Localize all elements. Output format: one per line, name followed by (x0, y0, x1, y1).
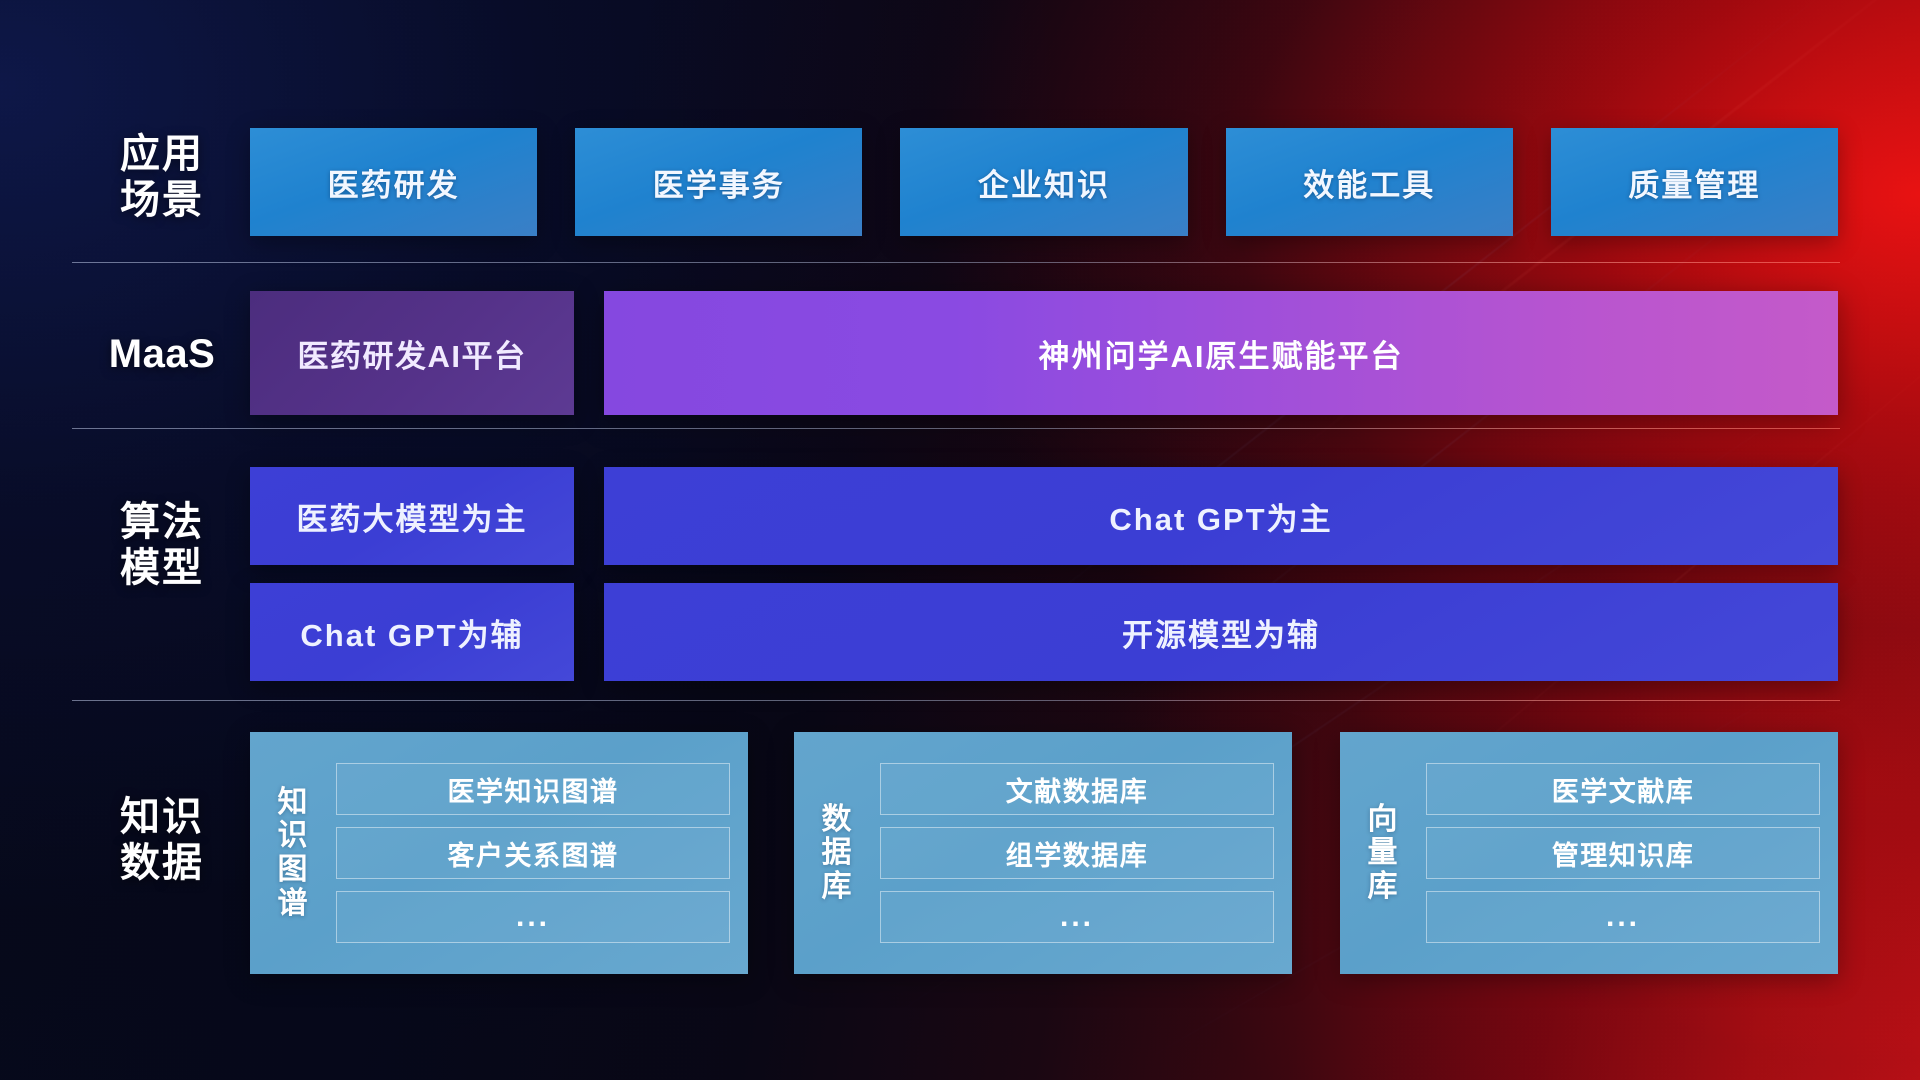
knowledge-item-label: 管理知识库 (1552, 834, 1695, 873)
knowledge-group-title: 向量库 (1340, 803, 1426, 904)
knowledge-group-vector-database: 向量库 医学文献库 管理知识库 ... (1340, 732, 1838, 974)
knowledge-group-title-char: 向 (1340, 803, 1426, 837)
application-box-quality-management[interactable]: 质量管理 (1551, 128, 1838, 236)
knowledge-group-title-char: 据 (794, 836, 880, 870)
row-label-algorithm-line1: 算法 (72, 500, 252, 546)
knowledge-item-label: 客户关系图谱 (448, 834, 619, 873)
application-box-label: 质量管理 (1628, 160, 1760, 205)
application-box-label: 医学事务 (653, 160, 785, 205)
algorithm-cell-label: 医药大模型为主 (297, 494, 528, 539)
architecture-diagram-canvas: 应用 场景 医药研发 医学事务 企业知识 效能工具 质量管理 (0, 0, 1920, 1080)
knowledge-group-title: 数据库 (794, 803, 880, 904)
application-box-medicine-rnd[interactable]: 医药研发 (250, 128, 537, 236)
row-label-maas-text: MaaS (72, 332, 252, 378)
row-label-knowledge-data: 知识 数据 (72, 795, 252, 886)
knowledge-item-more[interactable]: ... (336, 891, 730, 943)
row-label-application-line2: 场景 (72, 178, 252, 224)
maas-box-label: 神州问学AI原生赋能平台 (1039, 331, 1404, 376)
algorithm-cell-label: Chat GPT为辅 (300, 610, 523, 655)
algorithm-cell-label: 开源模型为辅 (1122, 610, 1320, 655)
knowledge-item-label: ... (516, 900, 550, 934)
knowledge-item-label: ... (1606, 900, 1640, 934)
knowledge-item-medical-literature-library[interactable]: 医学文献库 (1426, 763, 1820, 815)
application-box-medical-affairs[interactable]: 医学事务 (575, 128, 862, 236)
knowledge-item-label: 医学文献库 (1552, 770, 1695, 809)
maas-box-medicine-ai-platform[interactable]: 医药研发AI平台 (250, 291, 574, 415)
knowledge-item-omics-database[interactable]: 组学数据库 (880, 827, 1274, 879)
algorithm-cell-opensource-secondary[interactable]: 开源模型为辅 (604, 583, 1838, 681)
knowledge-group-title-char: 数 (794, 803, 880, 837)
knowledge-item-label: ... (1060, 900, 1094, 934)
knowledge-group-title-char: 谱 (250, 887, 336, 921)
row-label-application-scene: 应用 场景 (72, 132, 252, 223)
knowledge-item-management-knowledge-library[interactable]: 管理知识库 (1426, 827, 1820, 879)
knowledge-group-title: 知识图谱 (250, 786, 336, 920)
application-box-label: 效能工具 (1303, 160, 1435, 205)
knowledge-item-more[interactable]: ... (880, 891, 1274, 943)
row-label-algorithm-model: 算法 模型 (72, 500, 252, 591)
application-box-label: 医药研发 (328, 160, 460, 205)
application-box-label: 企业知识 (978, 160, 1110, 205)
knowledge-item-literature-database[interactable]: 文献数据库 (880, 763, 1274, 815)
divider-below-application (72, 262, 1840, 263)
knowledge-group-item-list: 医学文献库 管理知识库 ... (1426, 763, 1820, 943)
knowledge-item-label: 文献数据库 (1006, 770, 1149, 809)
row-label-maas: MaaS (72, 332, 252, 378)
knowledge-group-item-list: 文献数据库 组学数据库 ... (880, 763, 1274, 943)
knowledge-group-title-char: 知 (250, 786, 336, 820)
application-box-enterprise-knowledge[interactable]: 企业知识 (900, 128, 1187, 236)
application-box-list: 医药研发 医学事务 企业知识 效能工具 质量管理 (250, 128, 1838, 236)
row-label-algorithm-line2: 模型 (72, 546, 252, 592)
maas-box-label: 医药研发AI平台 (298, 331, 527, 376)
knowledge-item-medical-knowledge-graph[interactable]: 医学知识图谱 (336, 763, 730, 815)
divider-below-algorithm (72, 700, 1840, 701)
divider-below-maas (72, 428, 1840, 429)
knowledge-group-title-char: 库 (1340, 870, 1426, 904)
row-label-knowledge-line1: 知识 (72, 795, 252, 841)
algorithm-cell-medicine-llm-primary[interactable]: 医药大模型为主 (250, 467, 574, 565)
knowledge-item-label: 医学知识图谱 (448, 770, 619, 809)
knowledge-item-label: 组学数据库 (1006, 834, 1149, 873)
algorithm-cell-label: Chat GPT为主 (1109, 494, 1332, 539)
maas-box-shenzhou-wenxue-platform[interactable]: 神州问学AI原生赋能平台 (604, 291, 1838, 415)
knowledge-item-customer-relation-graph[interactable]: 客户关系图谱 (336, 827, 730, 879)
knowledge-group-title-char: 识 (250, 819, 336, 853)
knowledge-group-title-char: 图 (250, 853, 336, 887)
knowledge-group-title-char: 量 (1340, 836, 1426, 870)
knowledge-group-title-char: 库 (794, 870, 880, 904)
knowledge-group-knowledge-graph: 知识图谱 医学知识图谱 客户关系图谱 ... (250, 732, 748, 974)
knowledge-group-database: 数据库 文献数据库 组学数据库 ... (794, 732, 1292, 974)
row-label-application-line1: 应用 (72, 132, 252, 178)
application-box-efficiency-tools[interactable]: 效能工具 (1226, 128, 1513, 236)
knowledge-group-item-list: 医学知识图谱 客户关系图谱 ... (336, 763, 730, 943)
knowledge-item-more[interactable]: ... (1426, 891, 1820, 943)
algorithm-cell-chatgpt-primary[interactable]: Chat GPT为主 (604, 467, 1838, 565)
row-label-knowledge-line2: 数据 (72, 841, 252, 887)
algorithm-cell-chatgpt-secondary[interactable]: Chat GPT为辅 (250, 583, 574, 681)
